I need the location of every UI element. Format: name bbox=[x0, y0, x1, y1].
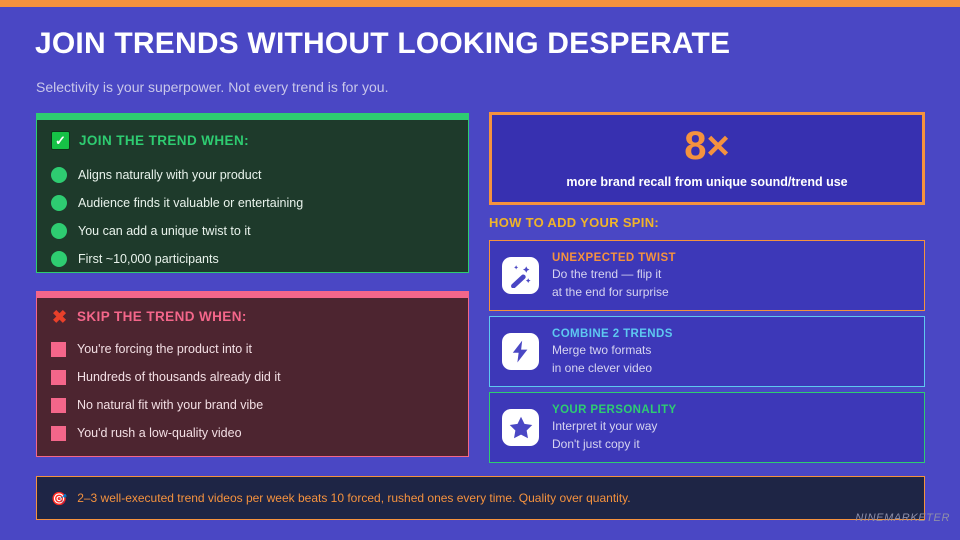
skip-the-trend-panel: ✖ SKIP THE TREND WHEN: You're forcing th… bbox=[36, 291, 469, 457]
card-line-2: at the end for surprise bbox=[552, 285, 676, 300]
footer-text: 2–3 well-executed trend videos per week … bbox=[77, 491, 630, 505]
bullet-dot-icon bbox=[51, 223, 67, 239]
bullet-square-icon bbox=[51, 426, 66, 441]
dart-target-icon: 🎯 bbox=[51, 492, 67, 505]
list-item: No natural fit with your brand vibe bbox=[37, 391, 468, 419]
bullet-dot-icon bbox=[51, 251, 67, 267]
list-item: Hundreds of thousands already did it bbox=[37, 363, 468, 391]
card-text-block: YOUR PERSONALITY Interpret it your way D… bbox=[552, 404, 677, 452]
bullet-dot-icon bbox=[51, 195, 67, 211]
card-line-1: Do the trend — flip it bbox=[552, 267, 676, 282]
join-panel-header: ✓ JOIN THE TREND WHEN: bbox=[51, 131, 468, 150]
join-criteria-list: Aligns naturally with your product Audie… bbox=[37, 161, 468, 273]
footer-takeaway-bar: 🎯 2–3 well-executed trend videos per wee… bbox=[36, 476, 925, 520]
stat-caption: more brand recall from unique sound/tren… bbox=[566, 175, 847, 189]
card-title: YOUR PERSONALITY bbox=[552, 404, 677, 416]
page-subtitle: Selectivity is your superpower. Not ever… bbox=[36, 79, 736, 95]
skip-item-label: You'd rush a low-quality video bbox=[77, 426, 242, 440]
join-the-trend-panel: ✓ JOIN THE TREND WHEN: Aligns naturally … bbox=[36, 113, 469, 273]
star-icon bbox=[502, 409, 539, 446]
bullet-square-icon bbox=[51, 342, 66, 357]
page-title: JOIN TRENDS WITHOUT LOOKING DESPERATE bbox=[35, 27, 795, 61]
list-item: Audience finds it valuable or entertaini… bbox=[37, 189, 468, 217]
list-item: Aligns naturally with your product bbox=[37, 161, 468, 189]
list-item: You're forcing the product into it bbox=[37, 335, 468, 363]
card-line-1: Merge two formats bbox=[552, 343, 673, 358]
join-item-label: First ~10,000 participants bbox=[78, 252, 219, 266]
top-accent-bar bbox=[0, 0, 960, 7]
bullet-square-icon bbox=[51, 398, 66, 413]
skip-item-label: Hundreds of thousands already did it bbox=[77, 370, 281, 384]
cross-mark-icon: ✖ bbox=[51, 308, 68, 325]
slide-canvas: JOIN TRENDS WITHOUT LOOKING DESPERATE Se… bbox=[0, 0, 960, 540]
list-item: You'd rush a low-quality video bbox=[37, 419, 468, 447]
skip-item-label: You're forcing the product into it bbox=[77, 342, 252, 356]
skip-panel-header: ✖ SKIP THE TREND WHEN: bbox=[51, 308, 468, 325]
join-item-label: Aligns naturally with your product bbox=[78, 168, 261, 182]
watermark: NINEMARKETER bbox=[855, 512, 950, 524]
spin-card-your-personality: YOUR PERSONALITY Interpret it your way D… bbox=[489, 392, 925, 463]
card-title: UNEXPECTED TWIST bbox=[552, 252, 676, 264]
join-panel-heading: JOIN THE TREND WHEN: bbox=[79, 133, 249, 148]
join-item-label: You can add a unique twist to it bbox=[78, 224, 251, 238]
skip-criteria-list: You're forcing the product into it Hundr… bbox=[37, 335, 468, 447]
brand-recall-stat-box: 8× more brand recall from unique sound/t… bbox=[489, 112, 925, 205]
join-item-label: Audience finds it valuable or entertaini… bbox=[78, 196, 303, 210]
card-text-block: UNEXPECTED TWIST Do the trend — flip it … bbox=[552, 252, 676, 300]
list-item: You can add a unique twist to it bbox=[37, 217, 468, 245]
bullet-square-icon bbox=[51, 370, 66, 385]
card-line-2: in one clever video bbox=[552, 361, 673, 376]
spin-section-label: HOW TO ADD YOUR SPIN: bbox=[489, 215, 659, 230]
card-text-block: COMBINE 2 TRENDS Merge two formats in on… bbox=[552, 328, 673, 376]
bullet-dot-icon bbox=[51, 167, 67, 183]
spin-card-unexpected-twist: UNEXPECTED TWIST Do the trend — flip it … bbox=[489, 240, 925, 311]
list-item: First ~10,000 participants bbox=[37, 245, 468, 273]
card-title: COMBINE 2 TRENDS bbox=[552, 328, 673, 340]
stat-value: 8× bbox=[684, 126, 730, 166]
check-mark-icon: ✓ bbox=[51, 131, 70, 150]
skip-panel-heading: SKIP THE TREND WHEN: bbox=[77, 309, 247, 324]
skip-item-label: No natural fit with your brand vibe bbox=[77, 398, 263, 412]
spin-card-combine-2-trends: COMBINE 2 TRENDS Merge two formats in on… bbox=[489, 316, 925, 387]
card-line-1: Interpret it your way bbox=[552, 419, 677, 434]
magic-wand-icon bbox=[502, 257, 539, 294]
lightning-bolt-icon bbox=[502, 333, 539, 370]
card-line-2: Don't just copy it bbox=[552, 437, 677, 452]
